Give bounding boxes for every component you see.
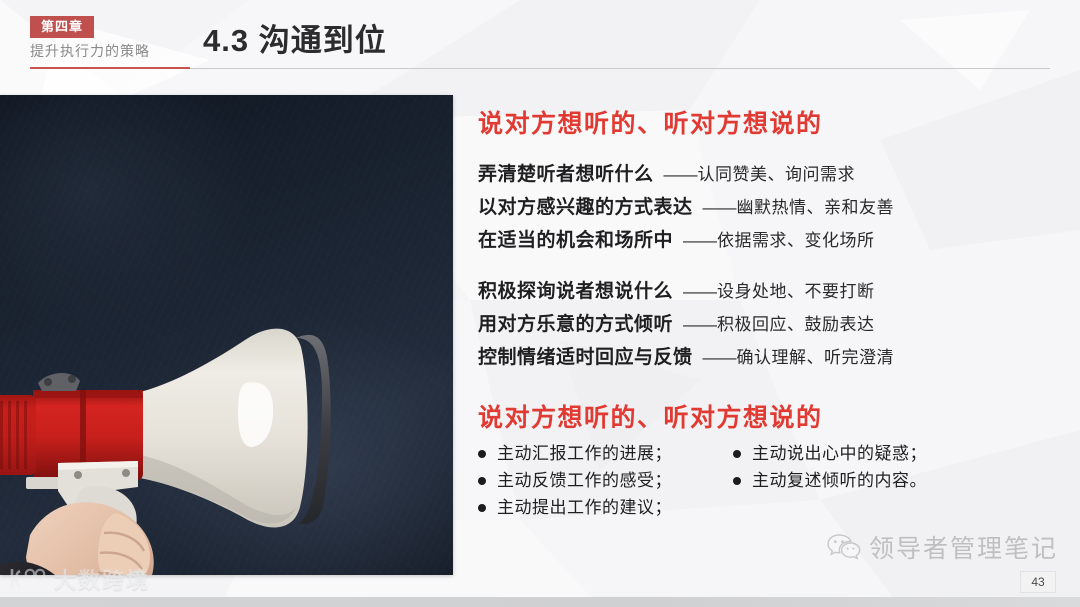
statement-line: 在适当的机会和场所中 —— 依据需求、变化场所 (478, 224, 1068, 257)
bullet-dot-icon (478, 504, 486, 512)
statement-line: 以对方感兴趣的方式表达 —— 幽默热情、亲和友善 (478, 191, 1068, 224)
page-number-badge: 43 (1020, 571, 1056, 593)
list-item: 主动复述倾听的内容。 (733, 467, 927, 494)
brand-logo-icon (6, 566, 48, 592)
bullet-dot-icon (733, 450, 741, 458)
bullet-dot-icon (478, 477, 486, 485)
bullet-label: 主动反馈工作的感受； (497, 467, 672, 494)
statement-line: 积极探询说者想说什么 —— 设身处地、不要打断 (478, 275, 1068, 308)
statement-dash: —— (703, 191, 737, 224)
statement-tail: 认同赞美、询问需求 (698, 158, 856, 191)
list-item: 主动提出工作的建议； (478, 494, 733, 521)
chapter-subtitle: 提升执行力的策略 (30, 42, 150, 60)
statement-dash: —— (683, 275, 717, 308)
slide-header: 第四章 提升执行力的策略 4.3 沟通到位 (0, 0, 1080, 80)
bullet-column-right: 主动说出心中的疑惑； 主动复述倾听的内容。 (733, 440, 927, 521)
bullet-label: 主动复述倾听的内容。 (752, 467, 927, 494)
statement-line: 控制情绪适时回应与反馈 —— 确认理解、听完澄清 (478, 341, 1068, 374)
statement-dash: —— (703, 341, 737, 374)
statement-tail: 依据需求、变化场所 (717, 224, 875, 257)
statement-group-speak: 弄清楚听者想听什么 —— 认同赞美、询问需求 以对方感兴趣的方式表达 —— 幽默… (478, 158, 1068, 257)
bottom-strip (0, 597, 1080, 607)
bullet-dot-icon (733, 477, 741, 485)
list-item: 主动说出心中的疑惑； (733, 440, 927, 467)
bullet-columns: 主动汇报工作的进展； 主动反馈工作的感受； 主动提出工作的建议； 主动说出心中的… (478, 440, 1068, 521)
bullet-dot-icon (478, 450, 486, 458)
statement-strong: 在适当的机会和场所中 (478, 224, 673, 257)
brand-watermark: 大数跨境 (6, 563, 150, 595)
statement-line: 弄清楚听者想听什么 —— 认同赞美、询问需求 (478, 158, 1068, 191)
list-item: 主动汇报工作的进展； (478, 440, 733, 467)
megaphone-illustration (0, 95, 453, 575)
statement-strong: 控制情绪适时回应与反馈 (478, 341, 693, 374)
section-heading-bottom: 说对方想听的、听对方想说的 (478, 402, 1068, 434)
bullet-label: 主动汇报工作的进展； (497, 440, 672, 467)
chapter-badge: 第四章 (30, 16, 94, 38)
statement-line: 用对方乐意的方式倾听 —— 积极回应、鼓励表达 (478, 308, 1068, 341)
header-rule-red (30, 67, 190, 69)
statement-strong: 以对方感兴趣的方式表达 (478, 191, 693, 224)
statement-strong: 弄清楚听者想听什么 (478, 158, 654, 191)
statement-tail: 确认理解、听完澄清 (737, 341, 895, 374)
statement-strong: 用对方乐意的方式倾听 (478, 308, 673, 341)
slide-canvas: 第四章 提升执行力的策略 4.3 沟通到位 (0, 0, 1080, 607)
megaphone-photo (0, 95, 453, 575)
bullet-label: 主动提出工作的建议； (497, 494, 672, 521)
bullet-label: 主动说出心中的疑惑； (752, 440, 927, 467)
list-item: 主动反馈工作的感受； (478, 467, 733, 494)
section-heading-top: 说对方想听的、听对方想说的 (478, 108, 1068, 140)
statement-dash: —— (683, 308, 717, 341)
brand-watermark-label: 大数跨境 (54, 563, 150, 595)
statement-dash: —— (683, 224, 717, 257)
statement-group-listen: 积极探询说者想说什么 —— 设身处地、不要打断 用对方乐意的方式倾听 —— 积极… (478, 275, 1068, 374)
page-title: 4.3 沟通到位 (203, 21, 387, 61)
statement-tail: 设身处地、不要打断 (717, 275, 875, 308)
bullet-column-left: 主动汇报工作的进展； 主动反馈工作的感受； 主动提出工作的建议； (478, 440, 733, 521)
header-rule-gray (190, 68, 1050, 69)
slide-content: 说对方想听的、听对方想说的 弄清楚听者想听什么 —— 认同赞美、询问需求 以对方… (478, 108, 1068, 521)
wechat-watermark: 领导者管理笔记 (827, 529, 1058, 565)
statement-dash: —— (664, 158, 698, 191)
statement-tail: 积极回应、鼓励表达 (717, 308, 875, 341)
statement-strong: 积极探询说者想说什么 (478, 275, 673, 308)
wechat-icon (827, 533, 861, 561)
statement-tail: 幽默热情、亲和友善 (737, 191, 895, 224)
wechat-watermark-label: 领导者管理笔记 (869, 529, 1058, 565)
